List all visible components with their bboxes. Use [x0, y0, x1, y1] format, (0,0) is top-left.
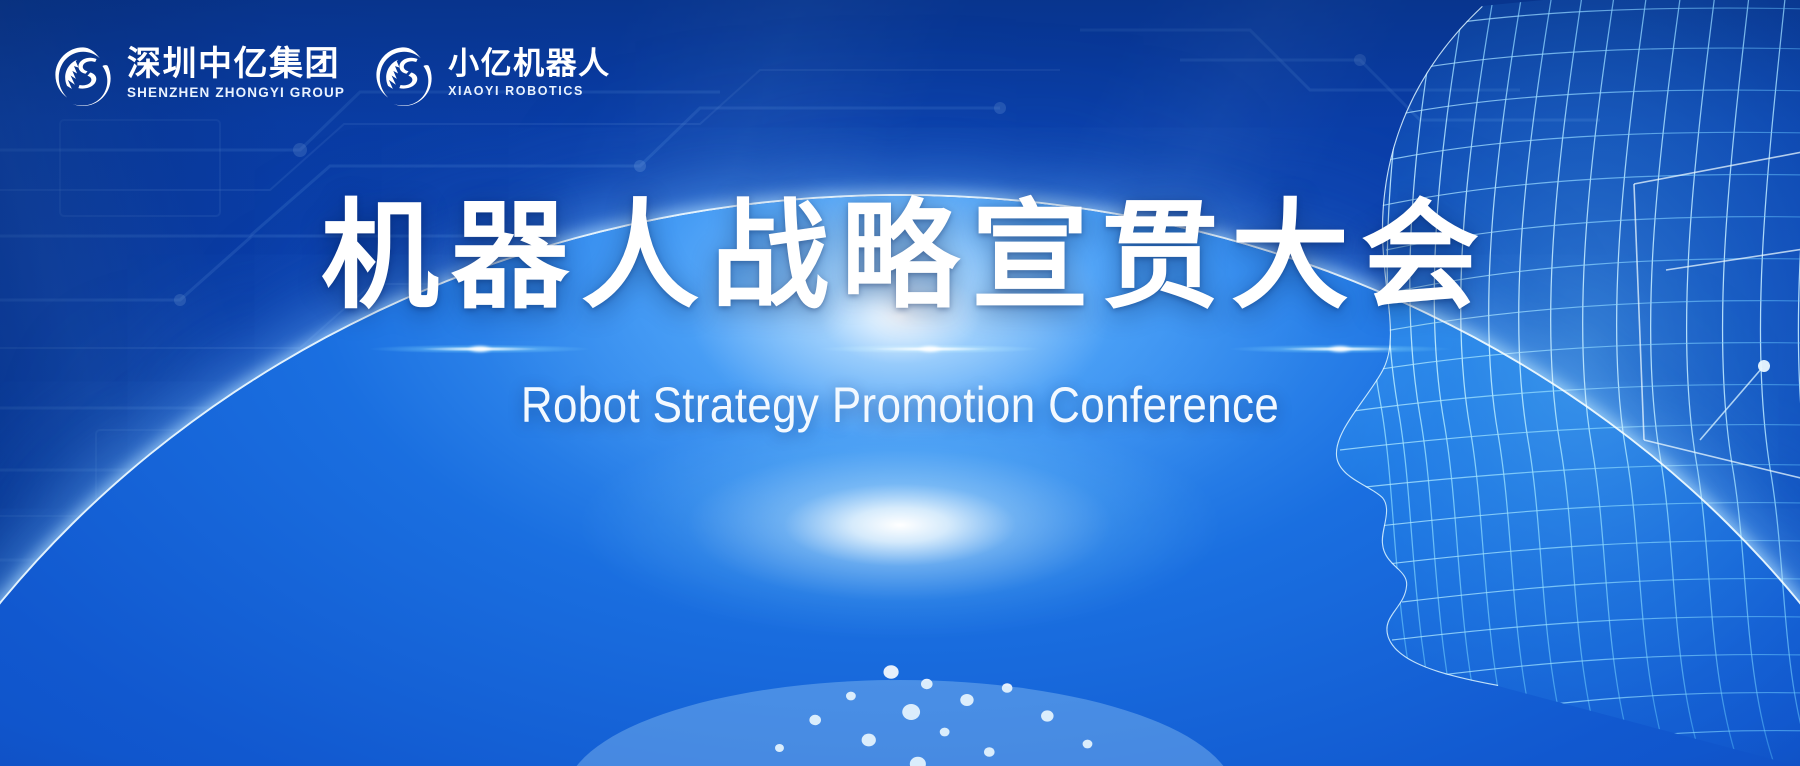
logo-bar: 深圳中亿集团 SHENZHEN ZHONGYI GROUP 小亿机器人 XIAO… [52, 44, 611, 106]
lens-flare-streak-icon [1190, 343, 1490, 355]
sun-core-glow [350, 215, 1450, 645]
logo-shenzhen-zhongyi-group[interactable]: 深圳中亿集团 SHENZHEN ZHONGYI GROUP [52, 44, 345, 106]
logo-name-cn: 深圳中亿集团 [127, 47, 345, 82]
flare-divider-row [0, 332, 1800, 366]
logo-xiaoyi-robotics[interactable]: 小亿机器人 XIAOYI ROBOTICS [373, 44, 611, 106]
sunburst-glow-icon [410, 176, 1390, 536]
conference-banner: 深圳中亿集团 SHENZHEN ZHONGYI GROUP 小亿机器人 XIAO… [0, 0, 1800, 766]
glowing-earth-horizon-icon [0, 196, 1800, 766]
light-beam-overlay [0, 0, 1800, 766]
lens-flare-streak-icon [780, 343, 1080, 355]
corner-shading-overlay [0, 0, 1800, 766]
vignette-overlay [0, 0, 1800, 766]
circuit-trace-pattern-icon [0, 0, 1800, 766]
page-subtitle: Robot Strategy Promotion Conference [108, 378, 1692, 433]
logo-name-cn: 小亿机器人 [448, 49, 611, 81]
xiaoyi-circle-brushstroke-logo-icon [373, 44, 435, 106]
lens-flare-streak-icon [330, 343, 630, 355]
background-gradient [0, 0, 1800, 766]
logo-name-en: SHENZHEN ZHONGYI GROUP [127, 83, 345, 103]
wireframe-human-head-profile-icon [1230, 0, 1800, 766]
headline-block: 机器人战略宣贯大会 Robot Strategy Promotion Confe… [0, 196, 1800, 433]
logo-name-en: XIAOYI ROBOTICS [448, 82, 611, 101]
zhongyi-circle-brushstroke-logo-icon [52, 44, 114, 106]
page-title: 机器人战略宣贯大会 [0, 196, 1800, 316]
